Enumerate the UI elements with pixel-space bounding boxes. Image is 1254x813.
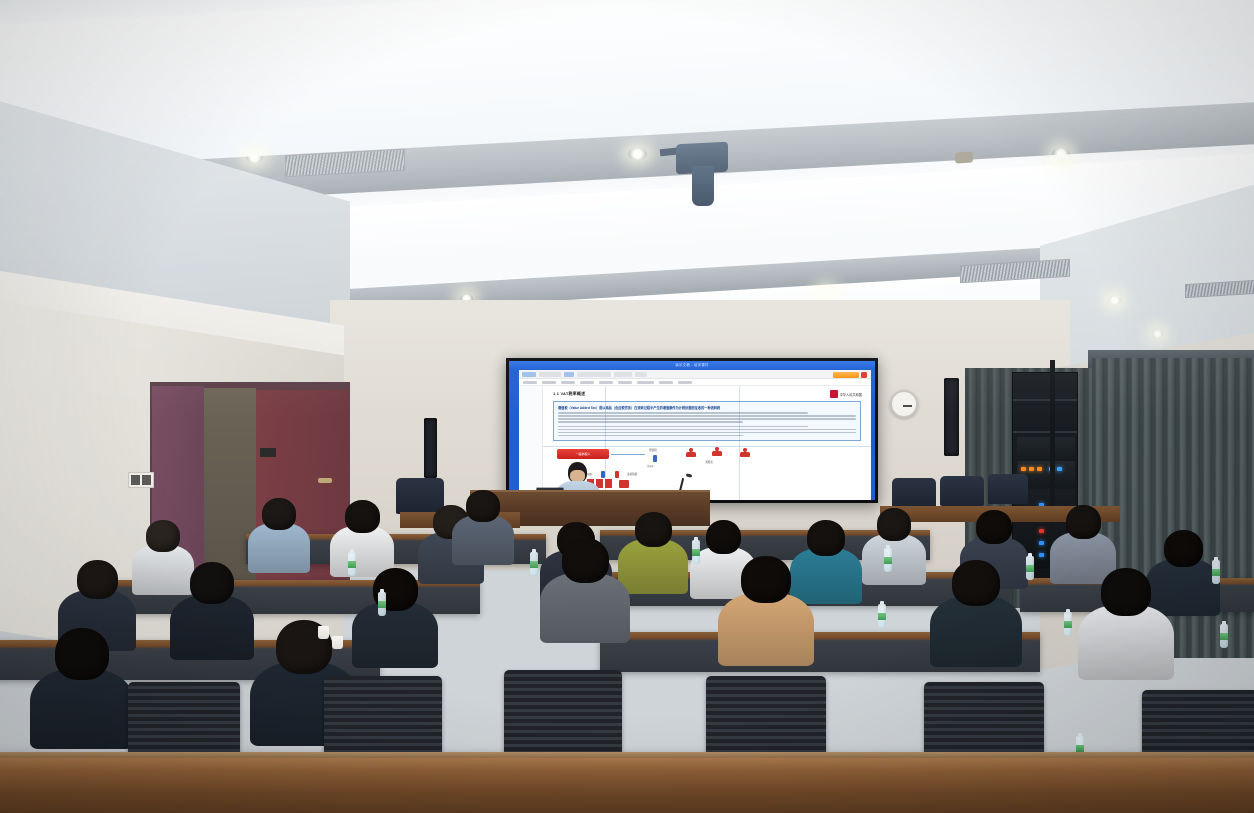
- downlight-icon: [1052, 148, 1070, 160]
- paper-cup[interactable]: [318, 626, 329, 639]
- downlight-icon: [628, 148, 647, 160]
- bottom-icon: [619, 480, 629, 488]
- water-bottle[interactable]: [378, 592, 386, 616]
- rack-led-1: [1029, 467, 1034, 471]
- menu-item-1[interactable]: [542, 381, 556, 384]
- slide-callout: 增值税（Value Added Tax）是以商品（含应税劳务）在流转过程中产生的…: [553, 401, 861, 441]
- menu-item-5[interactable]: [618, 381, 632, 384]
- empty-chair[interactable]: [396, 478, 444, 514]
- attendee-head: [146, 520, 180, 552]
- menu-item-4[interactable]: [599, 381, 613, 384]
- attendee-torso: [452, 515, 514, 565]
- menu-item-7[interactable]: [659, 381, 673, 384]
- water-bottle[interactable]: [884, 548, 892, 572]
- diagram-footer-label: 消费者: [705, 460, 713, 464]
- paper-cup[interactable]: [332, 636, 343, 649]
- app-menubar[interactable]: [519, 379, 871, 386]
- attendee-head: [807, 520, 845, 556]
- attendee-head: [77, 560, 118, 599]
- wall-speaker-icon: [424, 418, 437, 478]
- led-video-wall[interactable]: 演示文稿 - 培训课件 1.1 VAT税率概述: [506, 358, 878, 503]
- attendee-head: [1066, 505, 1101, 539]
- slide-heading: 1.1 VAT税率概述: [553, 391, 861, 397]
- callout-heading: 增值税（Value Added Tax）是以商品（含应税劳务）在流转过程中产生的…: [558, 405, 856, 410]
- attendee-head: [466, 490, 500, 522]
- attendee-head: [706, 520, 741, 554]
- screen-surface: 演示文稿 - 培训课件 1.1 VAT税率概述: [509, 361, 875, 500]
- attendee-torso: [170, 595, 254, 660]
- attendee-torso: [1078, 605, 1174, 679]
- attendee-torso: [132, 545, 194, 595]
- mesh-office-chair[interactable]: [504, 670, 622, 762]
- water-bottle[interactable]: [348, 552, 356, 576]
- water-bottle[interactable]: [1212, 560, 1220, 584]
- attendee-torso: [790, 548, 862, 604]
- light-switch-panel[interactable]: [128, 472, 154, 488]
- water-bottle[interactable]: [1026, 556, 1034, 580]
- mesh-office-chair[interactable]: [706, 676, 826, 764]
- downlight-icon: [1152, 330, 1163, 338]
- attendee-torso: [248, 523, 310, 573]
- water-bottle[interactable]: [1220, 624, 1228, 648]
- attendee-torso: [30, 669, 134, 750]
- bottom-icon: [605, 479, 612, 488]
- diagram-node-icon: [711, 447, 722, 456]
- logo-label: 中华人民共和国: [840, 392, 862, 397]
- rack-led-8: [1039, 541, 1044, 545]
- attendee-head: [262, 498, 296, 530]
- attendee-head: [877, 508, 911, 541]
- menu-item-0[interactable]: [523, 381, 537, 384]
- wall-speaker-icon: [944, 378, 959, 456]
- door-handle-icon[interactable]: [318, 478, 332, 483]
- close-icon[interactable]: [861, 372, 867, 378]
- downlight-icon: [820, 288, 833, 297]
- attendee-torso: [540, 573, 630, 643]
- mesh-office-chair[interactable]: [324, 676, 442, 764]
- rack-led-2: [1037, 467, 1042, 471]
- downlight-icon: [1108, 296, 1121, 305]
- attendee-head: [952, 560, 1000, 606]
- attendee-torso: [352, 602, 438, 669]
- attendee-head: [741, 556, 791, 603]
- foreground-table: [0, 758, 1254, 813]
- empty-chair[interactable]: [892, 478, 936, 508]
- diagram-primary-chip: 一般纳税人: [557, 449, 609, 459]
- diagram-center-label: 增值税: [649, 448, 657, 452]
- wall-clock-icon: [890, 390, 918, 418]
- attendee-head: [562, 538, 609, 583]
- empty-chair[interactable]: [940, 476, 984, 506]
- door-sign-icon: [260, 448, 276, 457]
- attendee-torso: [1146, 559, 1220, 616]
- water-bottle[interactable]: [878, 604, 886, 628]
- water-bottle[interactable]: [530, 552, 538, 576]
- water-bottle[interactable]: [1064, 612, 1072, 636]
- attendee-head: [190, 562, 234, 604]
- attendee-torso: [930, 596, 1022, 667]
- ceiling-camera-icon: [692, 166, 714, 206]
- attendee-torso: [718, 593, 814, 666]
- menu-item-6[interactable]: [637, 381, 654, 384]
- attendee-head: [55, 628, 109, 680]
- app-toolbar[interactable]: [519, 370, 871, 379]
- attendee-torso: [862, 534, 926, 585]
- menu-item-2[interactable]: [561, 381, 575, 384]
- slide-thumbnail-pane[interactable]: [519, 386, 543, 500]
- diagram-center-sub: 增值额: [647, 464, 654, 468]
- conference-room-photo: 演示文稿 - 培训课件 1.1 VAT税率概述: [0, 0, 1254, 813]
- rack-led-9: [1039, 553, 1044, 557]
- screen-titlebar: 演示文稿 - 培训课件: [509, 361, 875, 370]
- rack-led-7: [1039, 529, 1044, 533]
- ceiling-sensor-icon: [955, 152, 973, 164]
- legend-label: 进项税额: [627, 472, 637, 476]
- legend-swatch: [615, 471, 619, 478]
- attendee-head: [345, 500, 380, 533]
- attendee-head: [1101, 568, 1151, 616]
- attendee-head: [635, 512, 672, 547]
- rack-led-4: [1057, 467, 1062, 471]
- rack-led-0: [1021, 467, 1026, 471]
- org-logo: 中华人民共和国: [830, 390, 862, 398]
- attendee-torso: [618, 539, 688, 593]
- window-title: 演示文稿 - 培训课件: [675, 362, 708, 367]
- attendee-head: [976, 510, 1012, 544]
- menu-item-3[interactable]: [580, 381, 594, 384]
- slide-diagram: 一般纳税人 增值税 增值额: [553, 445, 861, 489]
- logo-icon: [830, 390, 838, 398]
- primary-action-button[interactable]: [833, 372, 859, 378]
- diagram-node-icon: [739, 448, 750, 457]
- water-bottle[interactable]: [692, 540, 700, 564]
- diagram-node-icon: [685, 448, 696, 457]
- menu-item-8[interactable]: [678, 381, 692, 384]
- downlight-icon: [246, 152, 263, 163]
- empty-chair[interactable]: [988, 474, 1028, 504]
- attendee-head: [1164, 530, 1203, 567]
